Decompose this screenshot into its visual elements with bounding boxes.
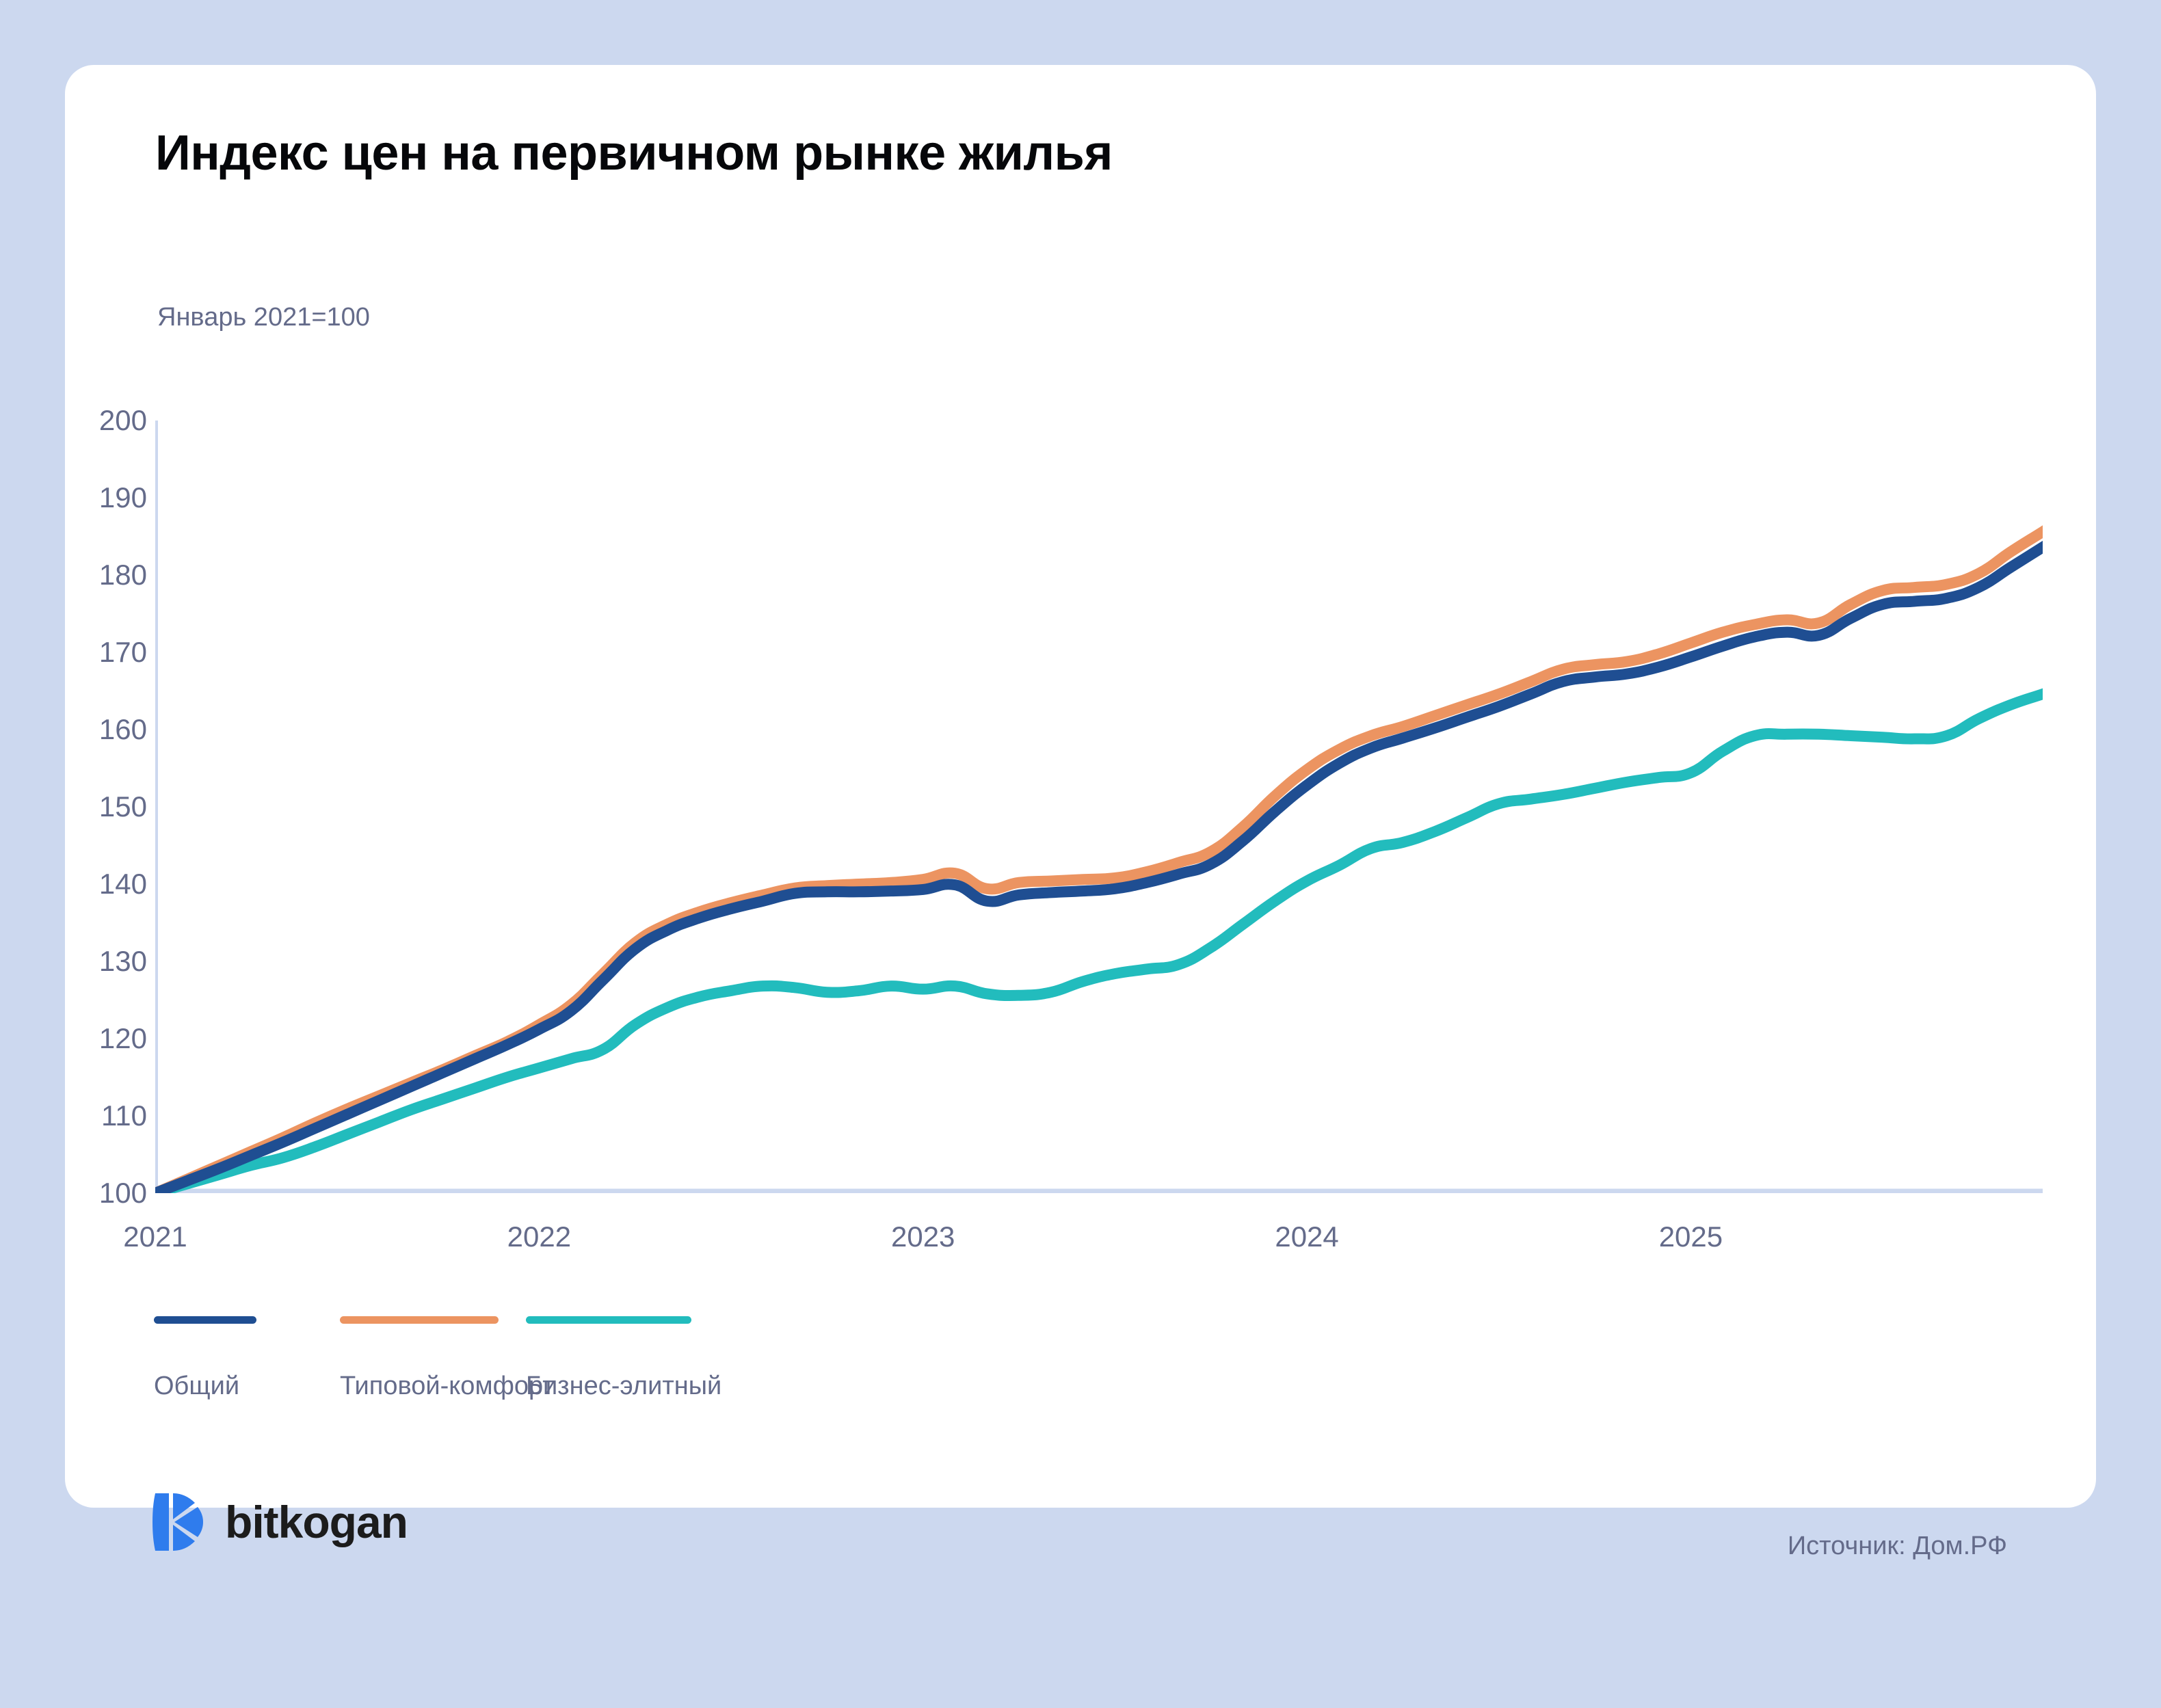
y-axis-tick-label: 200 [44,404,147,437]
y-axis-tick-label: 180 [44,559,147,591]
series-line-2 [155,683,2043,1193]
legend-item[interactable]: Бизнес-элитный [526,1316,731,1401]
legend-swatch [526,1316,691,1324]
y-axis-tick-label: 100 [44,1177,147,1210]
chart-svg [155,421,2043,1193]
source-note: Источник: Дом.РФ [1788,1532,2007,1561]
x-axis-tick-label: 2022 [507,1220,571,1253]
x-axis-tick-label: 2023 [891,1220,955,1253]
y-axis-tick-label: 130 [44,945,147,978]
legend-swatch [340,1316,499,1324]
chart-legend: ОбщийТиповой-комфортБизнес-элитный [154,1316,731,1401]
bitkogan-k-logo-icon [153,1491,206,1553]
chart-card: Индекс цен на первичном рынке жилья Янва… [65,65,2096,1508]
legend-swatch [154,1316,256,1324]
y-axis-tick-label: 150 [44,790,147,823]
chart-subtitle: Январь 2021=100 [157,303,370,332]
legend-item[interactable]: Общий [154,1316,340,1401]
x-axis-tick-label: 2025 [1659,1220,1723,1253]
logo-wordmark: bitkogan [225,1496,408,1548]
y-axis-tick-label: 120 [44,1022,147,1055]
y-axis-tick-label: 110 [44,1099,147,1132]
legend-item[interactable]: Типовой-комфорт [340,1316,526,1401]
legend-label: Бизнес-элитный [526,1372,731,1401]
legend-label: Общий [154,1372,340,1401]
y-axis-tick-label: 160 [44,713,147,746]
line-chart-plot [155,421,2043,1193]
y-axis-tick-label: 140 [44,868,147,900]
page-title: Индекс цен на первичном рынке жилья [155,125,1113,181]
y-axis-tick-label: 170 [44,636,147,669]
brand-logo: bitkogan [153,1491,408,1553]
legend-label: Типовой-комфорт [340,1372,526,1401]
y-axis-tick-label: 190 [44,481,147,514]
x-axis-tick-label: 2024 [1275,1220,1338,1253]
series-line-1 [155,511,2043,1193]
x-axis-tick-label: 2021 [123,1220,187,1253]
